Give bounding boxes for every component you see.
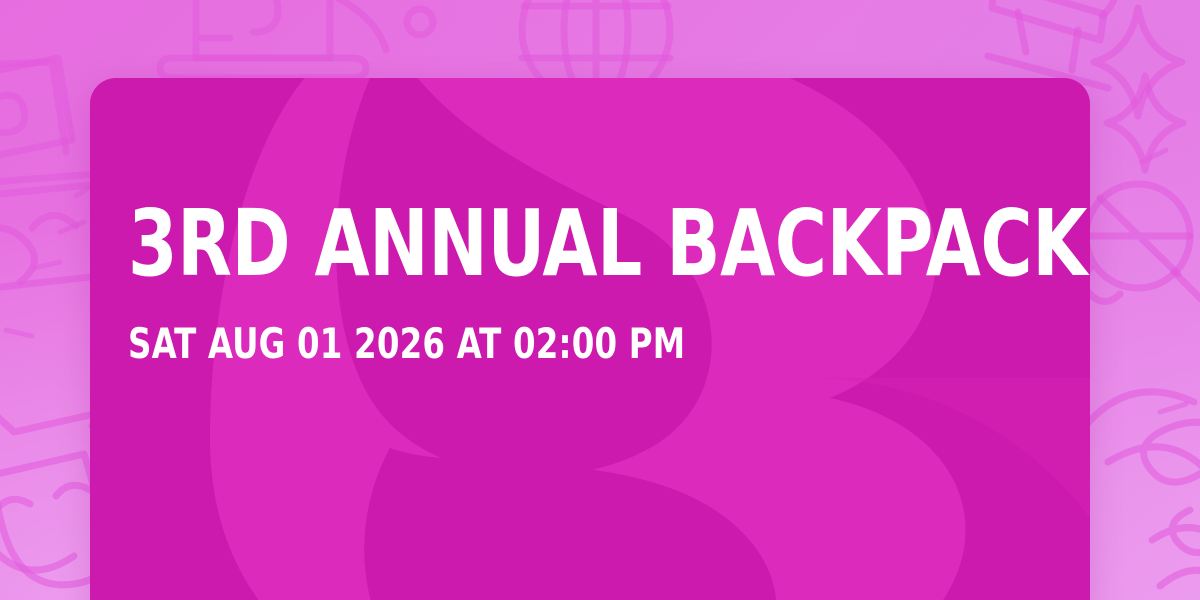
- sparkle-icon: [1107, 76, 1183, 170]
- microphone-icon: [1084, 184, 1200, 324]
- card-copy: 3RD ANNUAL BACKPACK EVENT SAT AUG 01 202…: [128, 200, 1050, 365]
- event-title: 3RD ANNUAL BACKPACK EVENT: [128, 200, 921, 287]
- streamer-icon: [988, 0, 1115, 88]
- sparkle-icon: [1094, 8, 1182, 116]
- ticket-icon: [0, 58, 72, 160]
- event-card[interactable]: 3RD ANNUAL BACKPACK EVENT SAT AUG 01 202…: [90, 78, 1090, 600]
- streamer-icon: [1082, 392, 1200, 553]
- confetti-dash-icon: [6, 182, 98, 336]
- event-banner: 3RD ANNUAL BACKPACK EVENT SAT AUG 01 202…: [0, 0, 1200, 600]
- confetti-dash-icon: [1142, 150, 1186, 412]
- laptop-icon: [160, 0, 386, 78]
- event-datetime: SAT AUG 01 2026 AT 02:00 PM: [128, 323, 921, 365]
